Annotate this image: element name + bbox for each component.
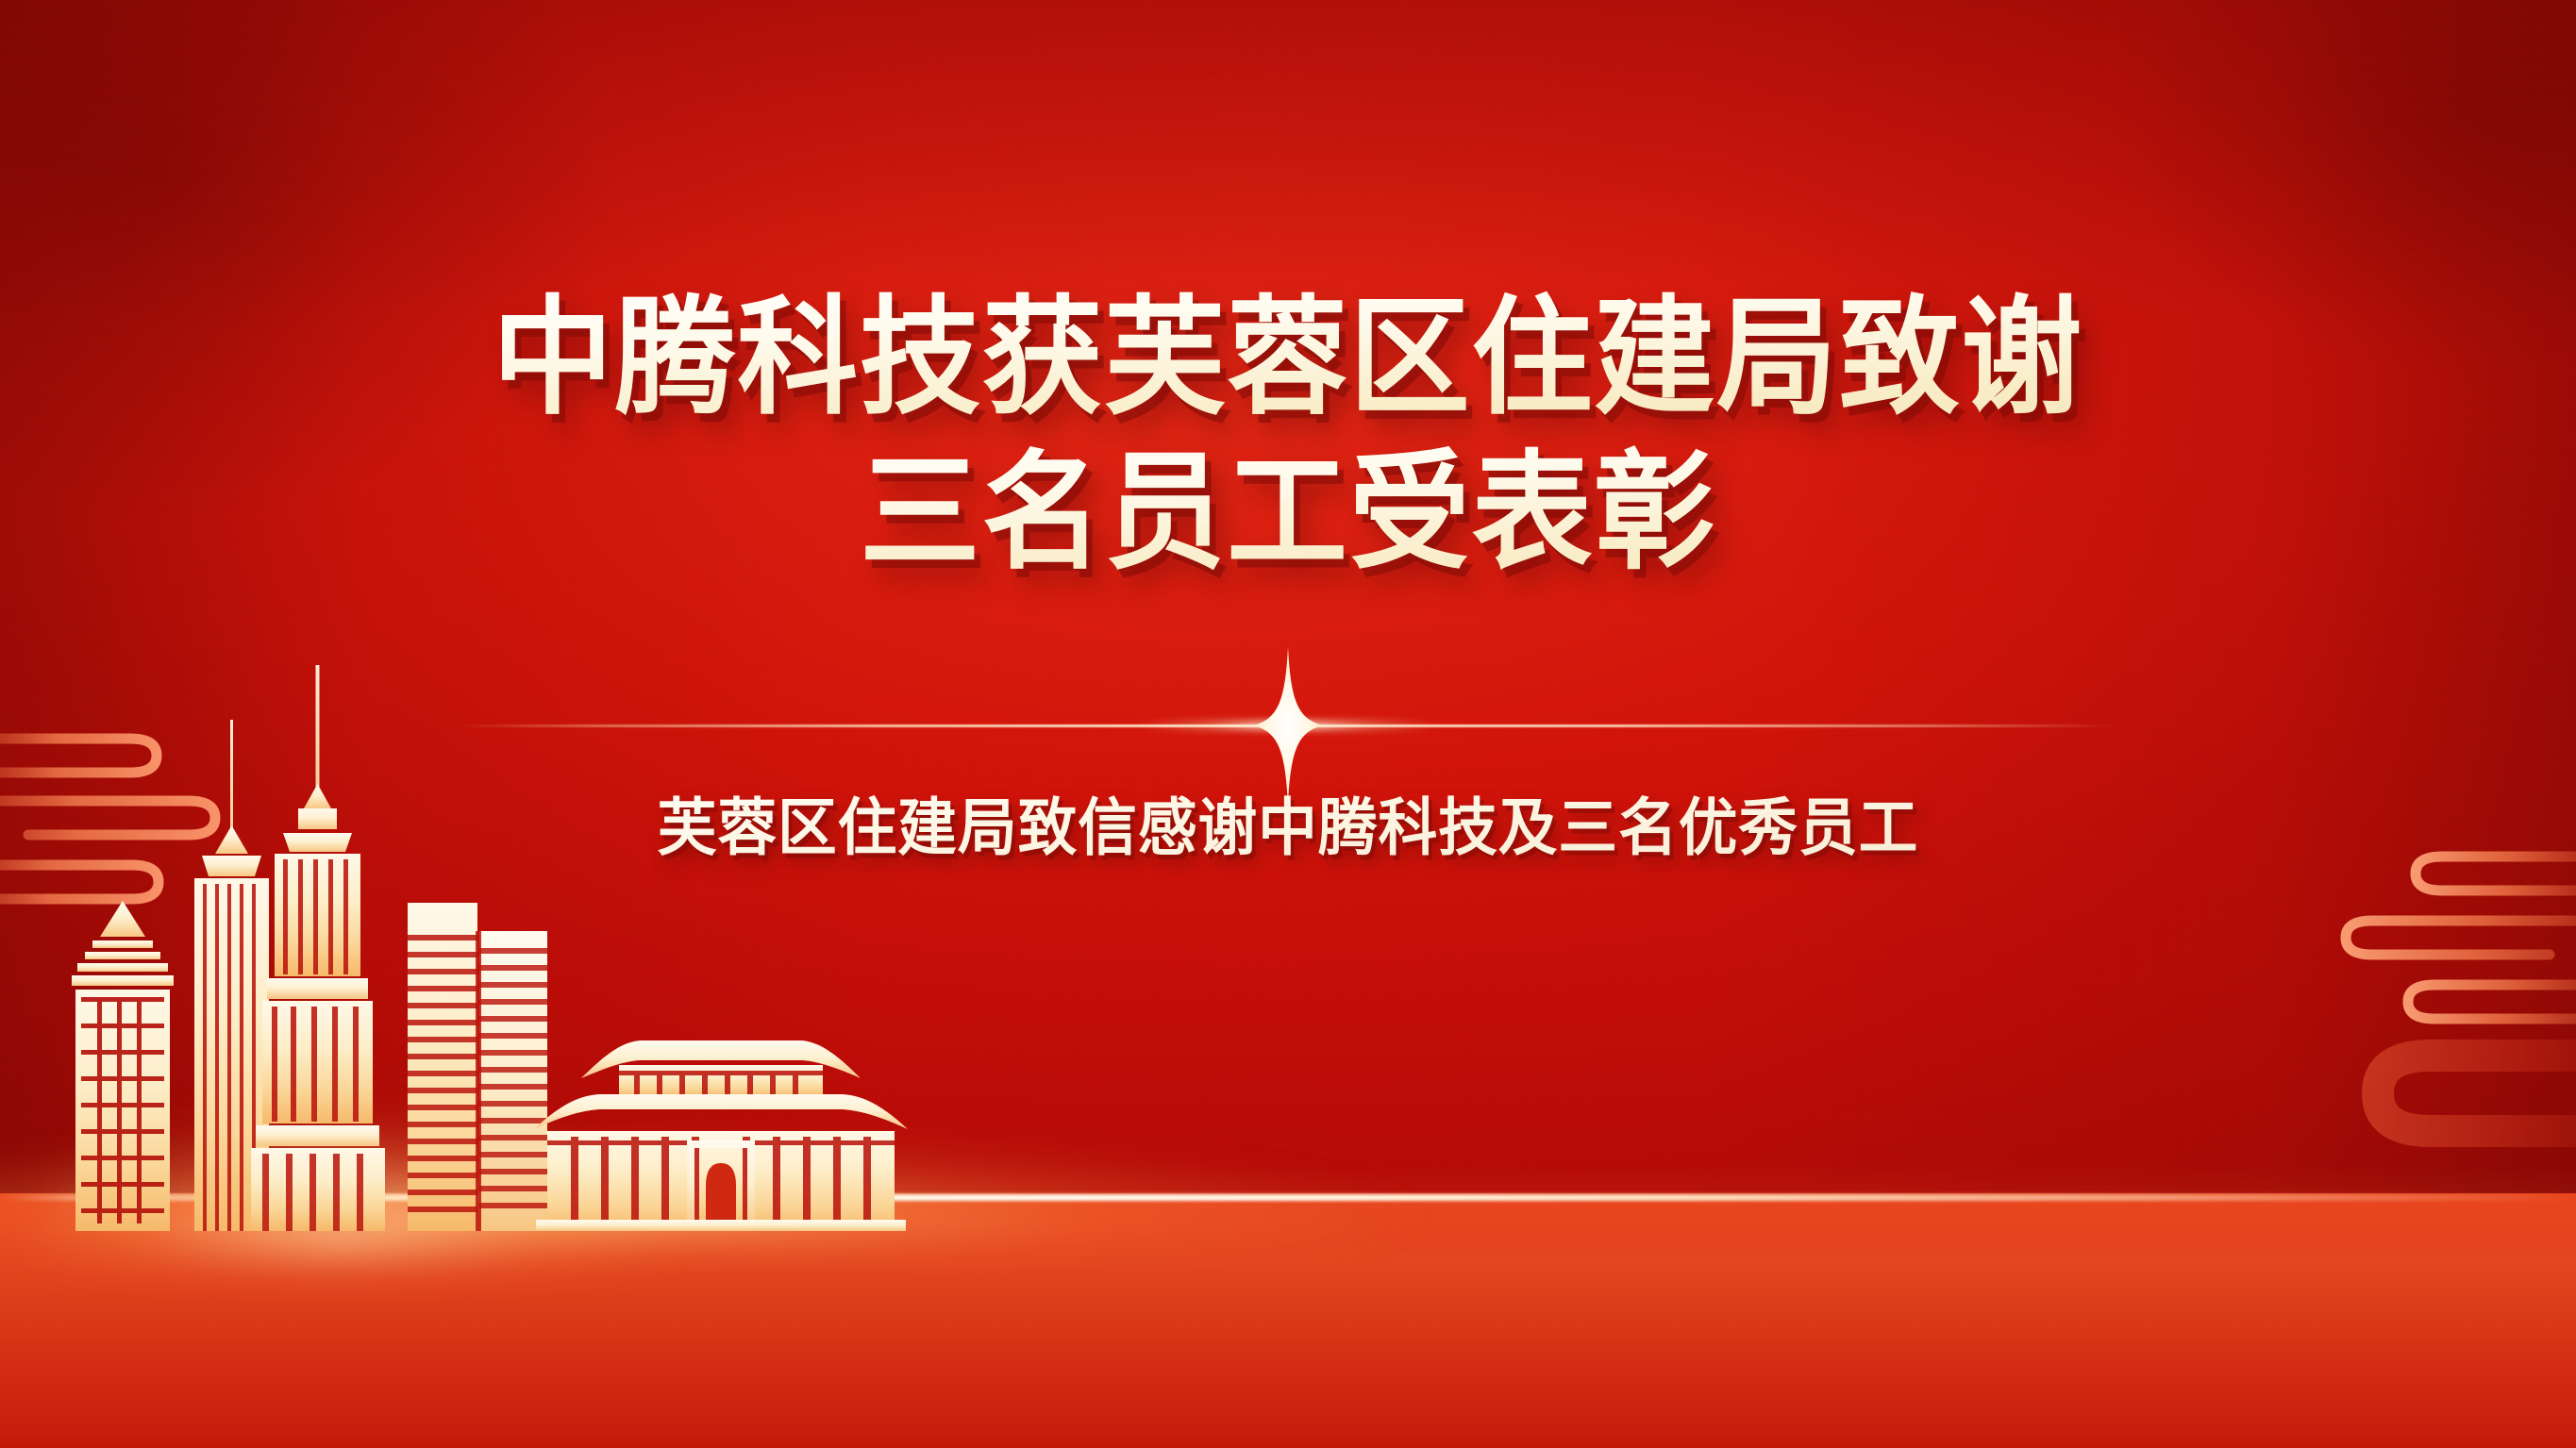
- title-line-1: 中腾科技获芙蓉区住建局致谢: [77, 283, 2499, 434]
- city-skyline-icon: [57, 665, 906, 1231]
- building-main-tower: [251, 665, 385, 1231]
- poster-title: 中腾科技获芙蓉区住建局致谢 三名员工受表彰: [0, 283, 2576, 590]
- poster-canvas: 中腾科技获芙蓉区住建局致谢 三名员工受表彰 芙蓉区住建局致信感谢中腾科技及三名优…: [0, 0, 2576, 1448]
- building-left-grid: [72, 901, 174, 1231]
- title-line-2: 三名员工受表彰: [77, 438, 2499, 589]
- chinese-gate-pagoda-icon: [534, 1040, 908, 1231]
- poster-subtitle: 芙蓉区住建局致信感谢中腾科技及三名优秀员工: [64, 777, 2512, 868]
- auspicious-cloud-icon-right-lower: [2312, 1024, 2576, 1203]
- divider: [458, 724, 2118, 726]
- building-slab-towers: [408, 903, 547, 1231]
